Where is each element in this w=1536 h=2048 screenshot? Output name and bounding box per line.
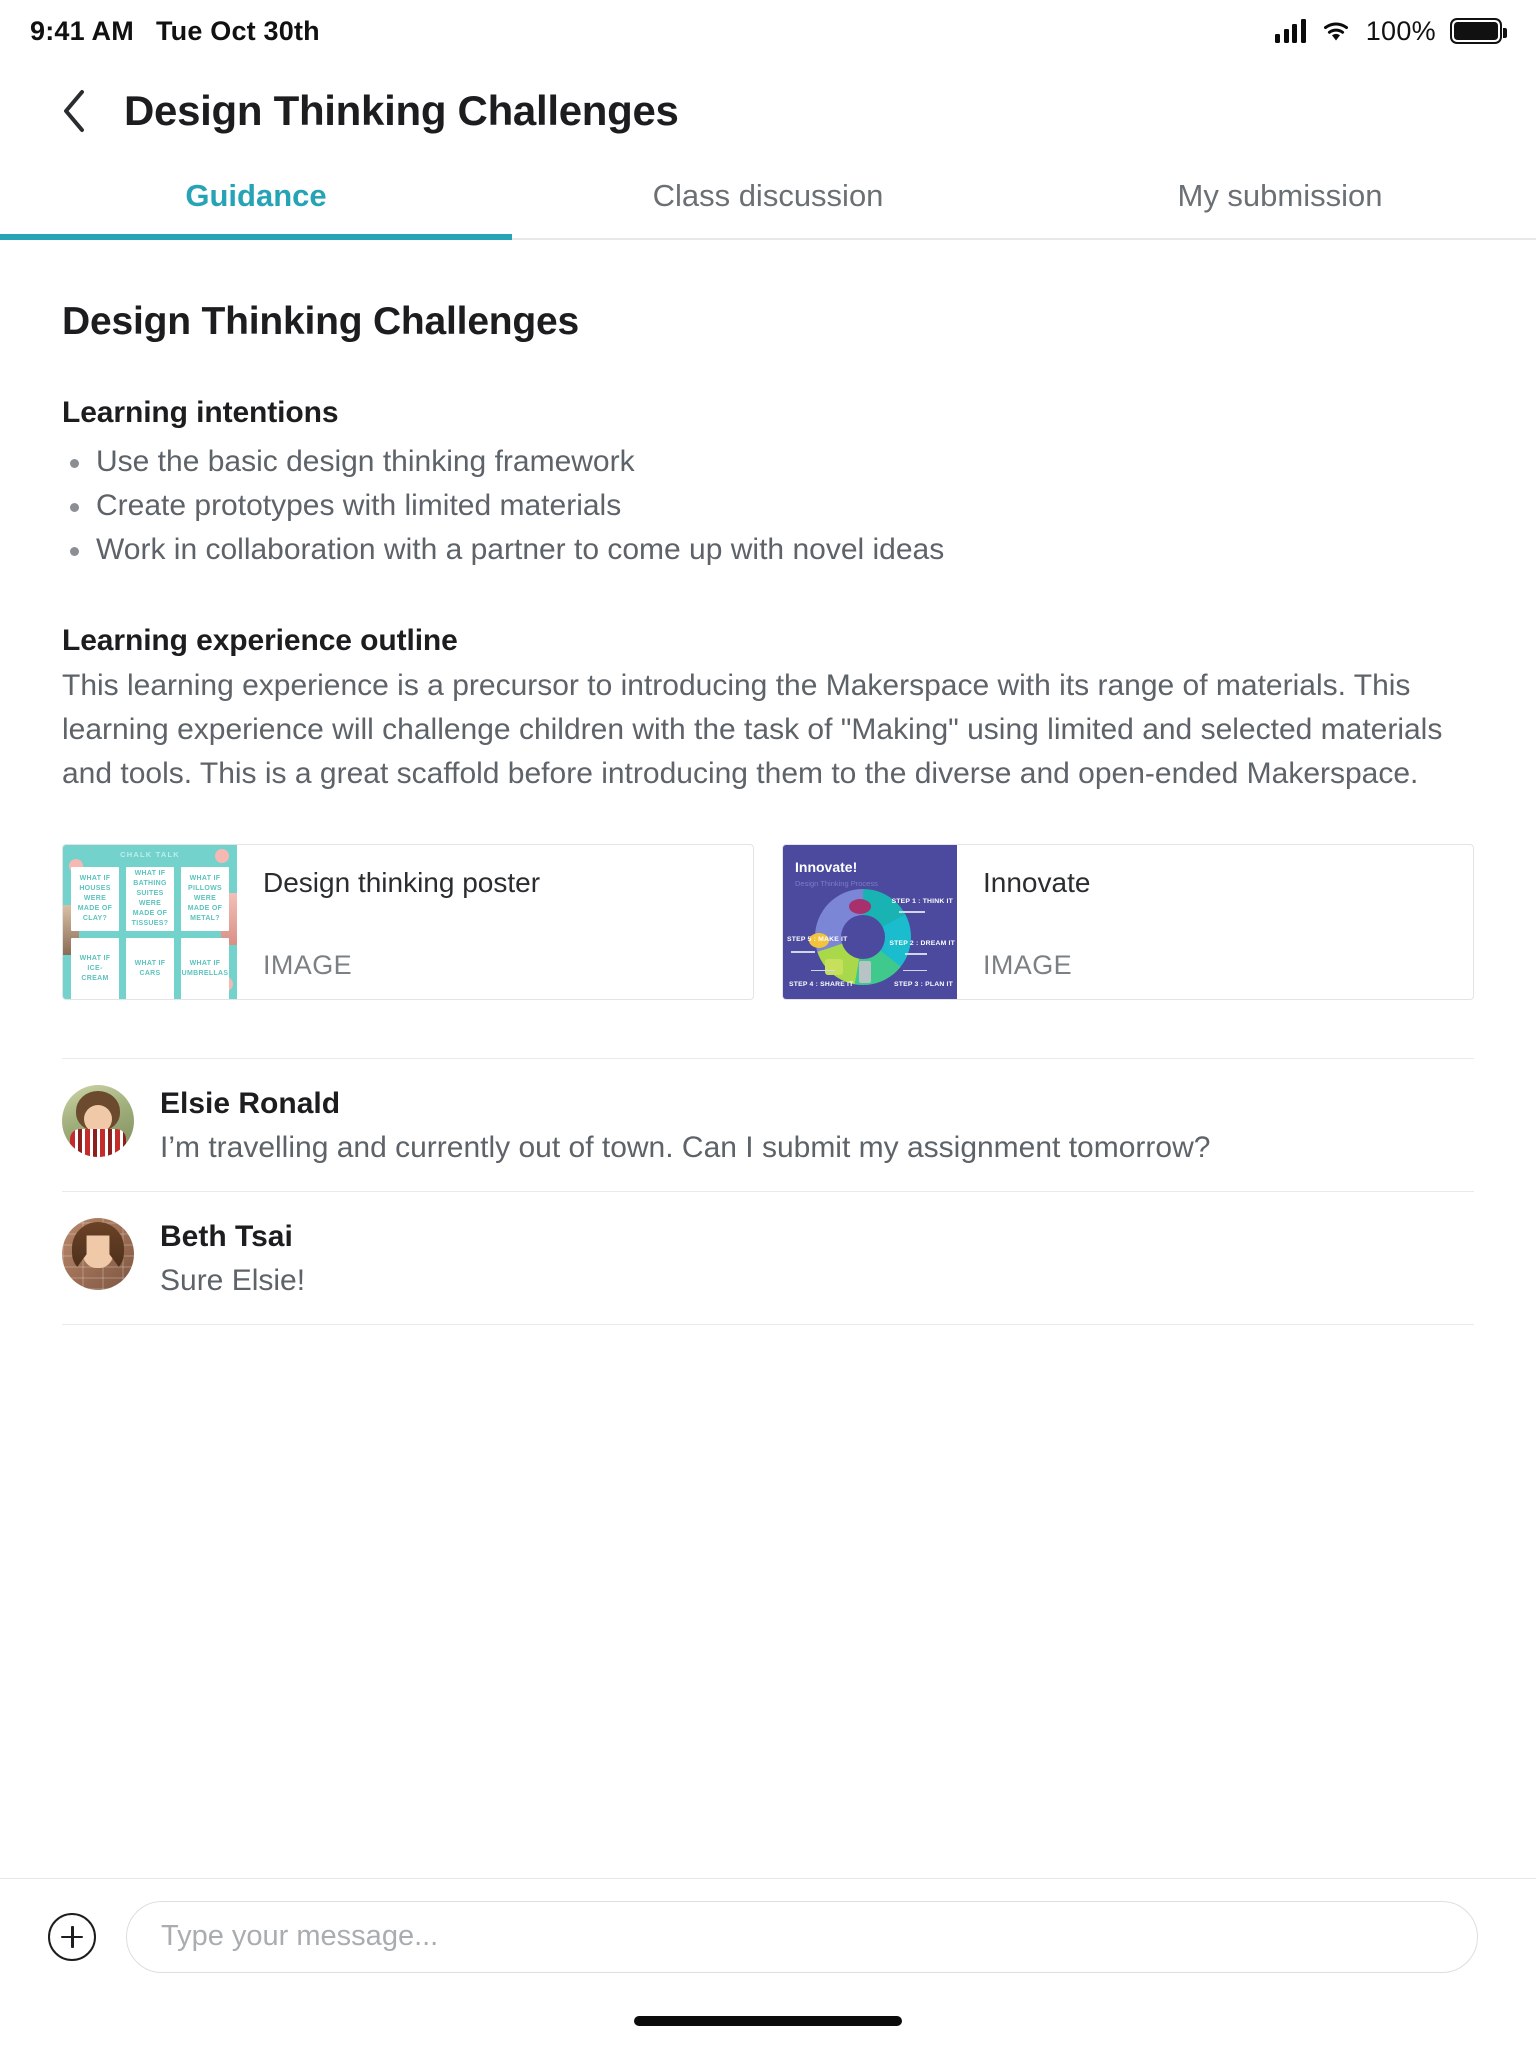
innovate-subheading: Design Thinking Process: [795, 879, 878, 888]
flower-icon: [215, 849, 229, 863]
comment-item: Elsie Ronald I’m travelling and currentl…: [62, 1059, 1474, 1191]
donut-step-label: STEP 3 : PLAN IT: [894, 980, 953, 989]
learning-intentions-heading: Learning intentions: [62, 396, 1474, 430]
attachment-kind: IMAGE: [263, 950, 727, 981]
leader-line: [791, 951, 815, 953]
leader-line: [903, 970, 927, 972]
chevron-left-icon: [61, 89, 87, 133]
attachment-title: Innovate: [983, 867, 1447, 899]
status-bar: 9:41 AM Tue Oct 30th 100%: [0, 0, 1536, 62]
plan-it-icon: [859, 961, 871, 983]
list-item: Work in collaboration with a partner to …: [62, 528, 1474, 572]
learning-outline-heading: Learning experience outline: [62, 624, 1474, 658]
nav-bar: Design Thinking Challenges: [0, 62, 1536, 160]
poster-header: CHALK TALK: [63, 850, 237, 859]
attachment-thumbnail-poster: CHALK TALK WHAT IF HOUSES WERE MADE OF C…: [63, 845, 237, 999]
home-indicator-area: [0, 1994, 1536, 2048]
wifi-icon: [1320, 19, 1352, 43]
divider: [62, 1324, 1474, 1325]
leader-line: [899, 911, 925, 913]
leader-line: [905, 953, 927, 955]
content-title: Design Thinking Challenges: [62, 300, 1474, 344]
guidance-content: Design Thinking Challenges Learning inte…: [0, 240, 1536, 1878]
comment-author: Elsie Ronald: [160, 1087, 1474, 1121]
attachment-card-innovate[interactable]: Innovate! Design Thinking Process STEP 1…: [782, 844, 1474, 1000]
tab-guidance[interactable]: Guidance: [0, 160, 512, 240]
comment-body: Beth Tsai Sure Elsie!: [160, 1218, 1474, 1302]
attachment-thumbnail-innovate: Innovate! Design Thinking Process STEP 1…: [783, 845, 957, 999]
status-bar-right: 100%: [1275, 16, 1502, 47]
tab-class-discussion[interactable]: Class discussion: [512, 160, 1024, 240]
app-screen: 9:41 AM Tue Oct 30th 100% Design Thinkin…: [0, 0, 1536, 2048]
donut-step-label: STEP 5 : MAKE IT: [787, 935, 847, 944]
message-composer: [0, 1878, 1536, 1994]
donut-step-label: STEP 4 : SHARE IT: [789, 980, 853, 989]
comment-text: I’m travelling and currently out of town…: [160, 1127, 1474, 1169]
poster-note: WHAT IF PILLOWS WERE MADE OF METAL?: [181, 867, 229, 931]
think-it-icon: [849, 899, 871, 914]
innovate-heading: Innovate!: [795, 859, 857, 875]
poster-note: WHAT IF BATHING SUITES WERE MADE OF TISS…: [126, 867, 174, 931]
attachment-kind: IMAGE: [983, 950, 1447, 981]
status-date: Tue Oct 30th: [156, 16, 320, 47]
attachment-card-body: Design thinking poster IMAGE: [237, 845, 753, 999]
attachment-list: CHALK TALK WHAT IF HOUSES WERE MADE OF C…: [62, 844, 1474, 1000]
avatar[interactable]: [62, 1085, 134, 1157]
list-item: Create prototypes with limited materials: [62, 484, 1474, 528]
attachment-card-design-thinking-poster[interactable]: CHALK TALK WHAT IF HOUSES WERE MADE OF C…: [62, 844, 754, 1000]
battery-icon: [1450, 18, 1502, 44]
list-item: Use the basic design thinking framework: [62, 440, 1474, 484]
tab-my-submission[interactable]: My submission: [1024, 160, 1536, 240]
poster-note: WHAT IF ICE-CREAM: [71, 938, 119, 1000]
tab-bar: Guidance Class discussion My submission: [0, 160, 1536, 240]
status-time: 9:41 AM: [30, 16, 134, 47]
leader-line: [811, 970, 835, 972]
battery-percent: 100%: [1366, 16, 1436, 47]
poster-note-grid: WHAT IF HOUSES WERE MADE OF CLAY? WHAT I…: [71, 867, 229, 999]
learning-intentions-list: Use the basic design thinking framework …: [62, 440, 1474, 572]
poster-note: WHAT IF UMBRELLAS: [181, 938, 229, 1000]
plus-circle-icon[interactable]: [48, 1913, 96, 1961]
home-indicator: [634, 2016, 902, 2026]
back-button[interactable]: [56, 87, 92, 135]
comment-author: Beth Tsai: [160, 1220, 1474, 1254]
poster-note: WHAT IF HOUSES WERE MADE OF CLAY?: [71, 867, 119, 931]
comment-text: Sure Elsie!: [160, 1260, 1474, 1302]
attachment-card-body: Innovate IMAGE: [957, 845, 1473, 999]
message-input[interactable]: [126, 1901, 1478, 1973]
page-title: Design Thinking Challenges: [124, 87, 679, 135]
learning-outline-body: This learning experience is a precursor …: [62, 664, 1474, 796]
share-it-icon: [825, 959, 843, 975]
donut-step-label: STEP 2 : DREAM IT: [889, 939, 955, 948]
comment-item: Beth Tsai Sure Elsie!: [62, 1192, 1474, 1324]
attachment-title: Design thinking poster: [263, 867, 727, 899]
avatar[interactable]: [62, 1218, 134, 1290]
status-bar-left: 9:41 AM Tue Oct 30th: [30, 16, 320, 47]
donut-step-label: STEP 1 : THINK IT: [892, 897, 953, 906]
poster-note: WHAT IF CARS: [126, 938, 174, 1000]
comment-body: Elsie Ronald I’m travelling and currentl…: [160, 1085, 1474, 1169]
signal-bars-icon: [1275, 19, 1306, 43]
